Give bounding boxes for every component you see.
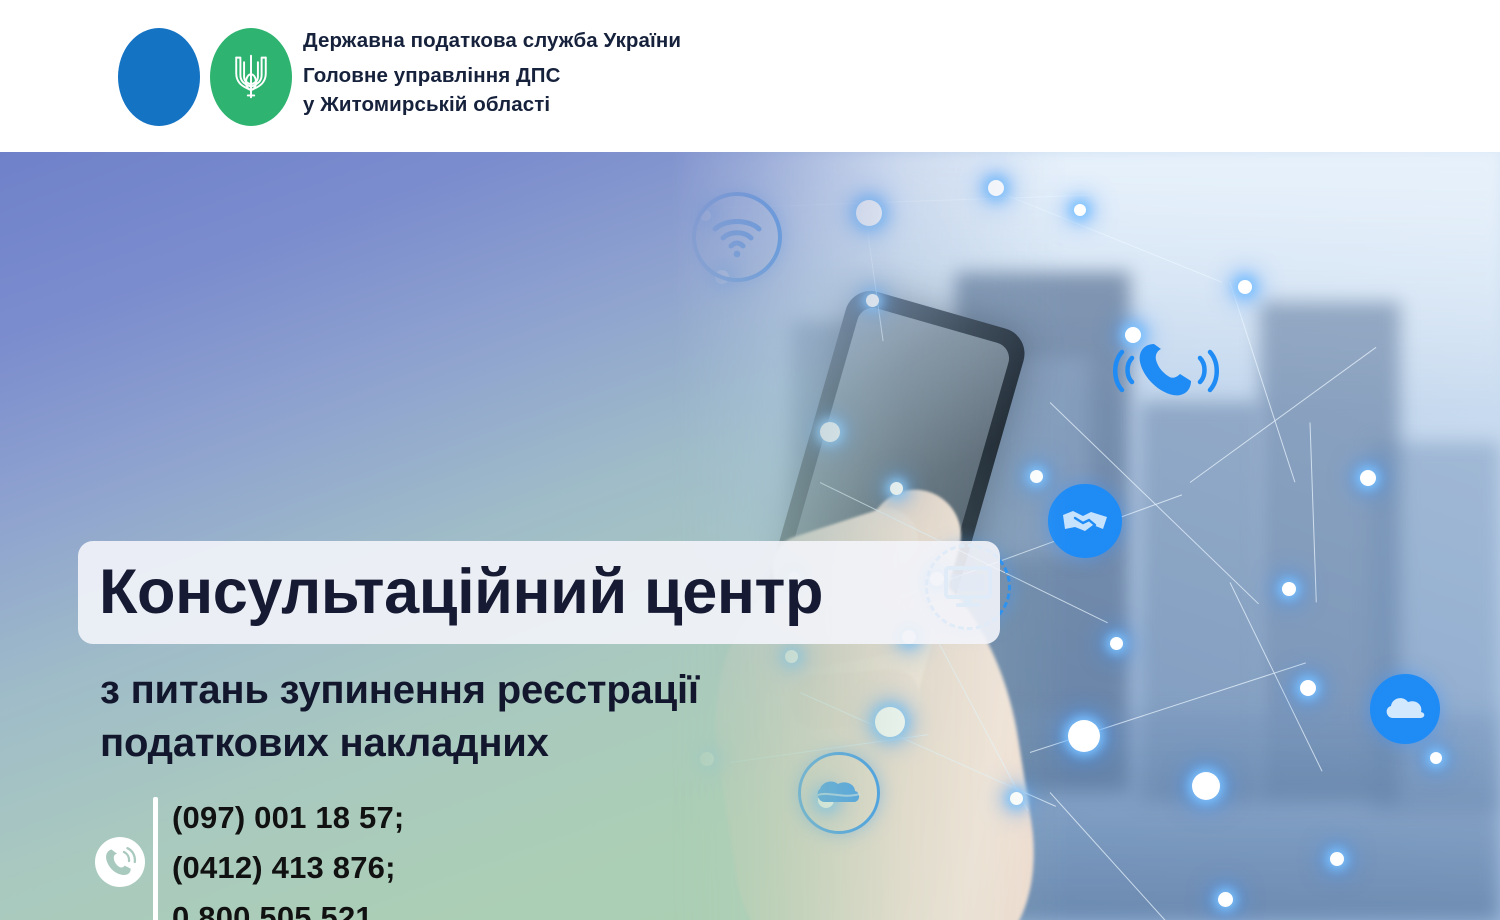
handshake-icon: [1048, 484, 1122, 558]
network-edge: [865, 212, 884, 341]
page-subtitle: з питань зупинення реєстрації податкових…: [100, 664, 1000, 770]
org-title-line-3: у Житомирській області: [303, 90, 681, 119]
network-node: [1282, 582, 1296, 596]
site-header: Державна податкова служба України Головн…: [0, 0, 1500, 152]
network-node: [1192, 772, 1220, 800]
page-title: Консультаційний центр: [99, 555, 999, 629]
telephone-glyph: [1110, 322, 1230, 422]
network-node: [1068, 720, 1100, 752]
dps-logo: [118, 28, 293, 126]
network-node: [856, 200, 882, 226]
logo-green-circle: [210, 28, 292, 126]
org-title-line-2: Головне управління ДПС: [303, 61, 681, 90]
phone-list[interactable]: (097) 001 18 57; (0412) 413 876; 0 800 5…: [172, 793, 772, 920]
network-node: [988, 180, 1004, 196]
network-node: [1030, 470, 1043, 483]
network-node: [890, 482, 903, 495]
phone-divider: [153, 797, 158, 920]
phone-call-icon[interactable]: [94, 836, 146, 888]
page-subtitle-line-2: податкових накладних: [100, 717, 1000, 770]
handshake-glyph: [1061, 505, 1109, 537]
cloud-glyph: [1383, 694, 1427, 724]
network-node: [785, 650, 798, 663]
network-node: [1360, 470, 1376, 486]
network-node: [820, 422, 840, 442]
wifi-icon: [692, 192, 782, 282]
org-title-line-1: Державна податкова служба України: [303, 30, 681, 52]
network-edge: [1310, 422, 1317, 602]
banner-page: Державна податкова служба України Головн…: [0, 0, 1500, 920]
network-edge: [1230, 582, 1323, 771]
network-node: [1110, 637, 1123, 650]
network-edge: [1050, 792, 1185, 920]
org-title-block: Державна податкова служба України Головн…: [303, 30, 681, 119]
phone-number[interactable]: (097) 001 18 57;: [172, 793, 772, 843]
network-edge: [1230, 282, 1296, 482]
network-node: [1430, 752, 1442, 764]
network-node: [1010, 792, 1023, 805]
cloud-icon: [1370, 674, 1440, 744]
network-edge: [990, 188, 1222, 283]
network-node: [866, 294, 879, 307]
phone-number[interactable]: (0412) 413 876;: [172, 843, 772, 893]
logo-blue-circle: [118, 28, 200, 126]
wifi-glyph: [711, 215, 763, 259]
network-node: [1074, 204, 1086, 216]
network-overlay: [670, 152, 1500, 920]
network-node: [1218, 892, 1233, 907]
page-subtitle-line-1: з питань зупинення реєстрації: [100, 664, 1000, 717]
globe-glyph: [814, 773, 864, 813]
network-node: [1330, 852, 1344, 866]
phone-number[interactable]: 0 800 505 521.: [172, 893, 772, 920]
telephone-ringing-icon: [1110, 322, 1230, 422]
promo-banner: Консультаційний центр з питань зупинення…: [0, 152, 1500, 920]
ukraine-trident-icon: [232, 53, 270, 101]
network-node: [1300, 680, 1316, 696]
network-node: [1238, 280, 1252, 294]
background-photo: [670, 152, 1500, 920]
